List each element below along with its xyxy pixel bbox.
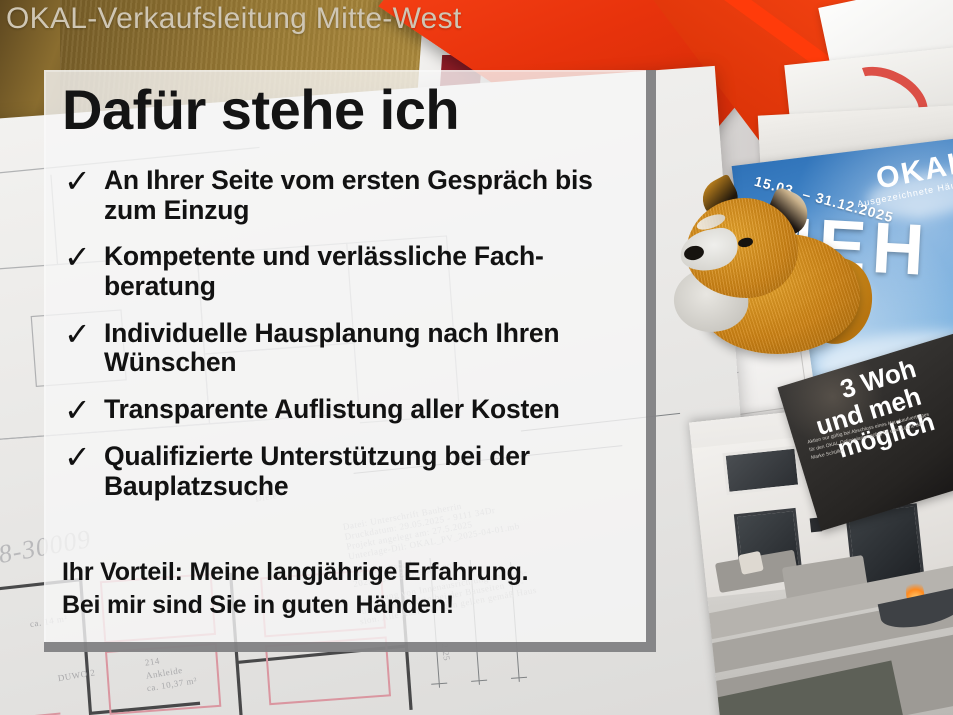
promise-item-text: Qualifizierte Unterstützung bei der Baup… bbox=[104, 442, 644, 501]
card-title: Dafür stehe ich bbox=[62, 82, 459, 138]
promise-item-text: Kompetente und verlässliche Fach-beratun… bbox=[104, 242, 644, 301]
check-icon: ✓ bbox=[58, 442, 104, 472]
closing-line-1: Ihr Vorteil: Meine langjährige Erfahrung… bbox=[62, 556, 642, 589]
promise-item: ✓ Individuelle Hausplanung nach Ihren Wü… bbox=[58, 319, 644, 378]
promise-item: ✓ Qualifizierte Unterstützung bei der Ba… bbox=[58, 442, 644, 501]
check-icon: ✓ bbox=[58, 319, 104, 349]
promise-item-text: An Ihrer Seite vom ersten Gespräch bis z… bbox=[104, 166, 644, 225]
fox-figurine bbox=[672, 172, 872, 372]
overlay-caption: OKAL-Verkaufsleitung Mitte-West bbox=[0, 0, 468, 38]
check-icon: ✓ bbox=[58, 395, 104, 425]
closing-statement: Ihr Vorteil: Meine langjährige Erfahrung… bbox=[62, 556, 642, 622]
promise-card: Dafür stehe ich ✓ An Ihrer Seite vom ers… bbox=[44, 70, 656, 652]
screenshot-stage: OKAL Ausgezeichnete Häuser 15.03. – 31.1… bbox=[0, 0, 953, 715]
promise-item: ✓ An Ihrer Seite vom ersten Gespräch bis… bbox=[58, 166, 644, 225]
terrace-upper-window bbox=[722, 445, 801, 495]
promise-list: ✓ An Ihrer Seite vom ersten Gespräch bis… bbox=[58, 166, 644, 518]
promise-item-text: Transparente Auflistung aller Kosten bbox=[104, 395, 644, 425]
promise-item: ✓ Transparente Auflistung aller Kosten bbox=[58, 395, 644, 425]
promise-item: ✓ Kompetente und verlässliche Fach-berat… bbox=[58, 242, 644, 301]
closing-line-2: Bei mir sind Sie in guten Händen! bbox=[62, 589, 642, 622]
promise-item-text: Individuelle Hausplanung nach Ihren Wüns… bbox=[104, 319, 644, 378]
check-icon: ✓ bbox=[58, 242, 104, 272]
check-icon: ✓ bbox=[58, 166, 104, 196]
